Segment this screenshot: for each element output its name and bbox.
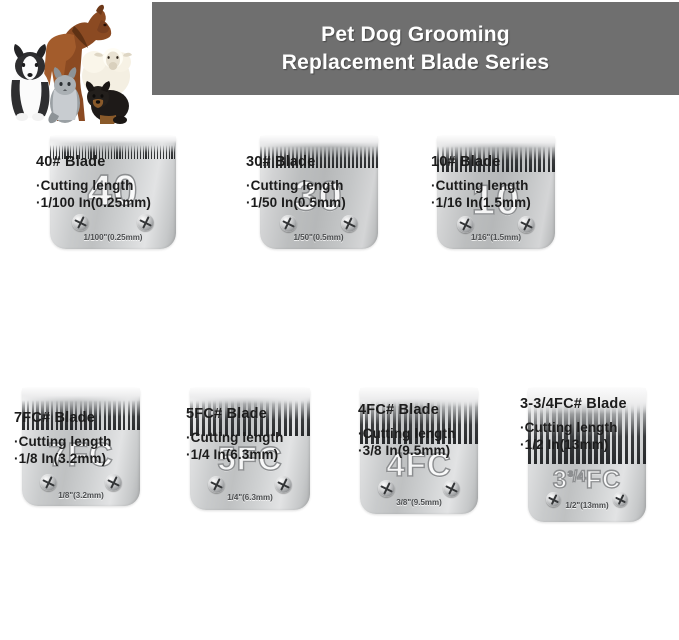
blade-screw-left-10 xyxy=(457,216,474,233)
blade-face-number-prefix: 3 xyxy=(553,466,568,494)
blade-face-number-3-3-4fc: 3³/4FC xyxy=(528,466,646,495)
blade-card-3-3-4fc[interactable]: 3³/4FC 1/2"(13mm) 3-3/4FC# Blade ·Cuttin… xyxy=(516,388,679,522)
blade-face-size-4fc: 3/8"(9.5mm) xyxy=(360,498,478,507)
blade-face-number-suffix: FC xyxy=(586,466,621,494)
blade-screw-right-40 xyxy=(137,214,154,231)
blade-screw-left-40 xyxy=(72,214,89,231)
blade-caption-line2-4fc: ·3/8 In(9.5mm) xyxy=(358,442,530,459)
blade-screw-right-10 xyxy=(518,216,535,233)
blade-caption-title-4fc: 4FC# Blade xyxy=(358,402,530,418)
blade-face-size-40: 1/100"(0.25mm) xyxy=(50,233,176,242)
blade-screw-right-7fc xyxy=(105,474,122,491)
blade-card-7fc[interactable]: 7FC 1/8"(3.2mm) 7FC# Blade ·Cutting leng… xyxy=(0,388,172,522)
blade-caption-30: 30# Blade ·Cutting length ·1/50 In(0.5mm… xyxy=(226,154,431,212)
blade-caption-line2-30: ·1/50 In(0.5mm) xyxy=(246,194,431,211)
blade-card-30[interactable]: 30 1/50"(0.5mm) 30# Blade ·Cutting lengt… xyxy=(226,136,411,249)
header-banner: Pet Dog Grooming Replacement Blade Serie… xyxy=(152,2,679,95)
blade-caption-3-3-4fc: 3-3/4FC# Blade ·Cutting length ·1/2 In(1… xyxy=(516,396,679,454)
blade-caption-7fc: 7FC# Blade ·Cutting length ·1/8 In(3.2mm… xyxy=(0,410,186,468)
blade-screw-left-5fc xyxy=(208,476,225,493)
blade-screw-left-30 xyxy=(280,215,297,232)
blade-screw-right-5fc xyxy=(275,476,292,493)
blade-caption-line1-10: ·Cutting length xyxy=(431,177,679,194)
blade-caption-line2-7fc: ·1/8 In(3.2mm) xyxy=(14,450,186,467)
blade-card-5fc[interactable]: 5FC 1/4"(6.3mm) 5FC# Blade ·Cutting leng… xyxy=(172,388,344,522)
blade-caption-line2-3-3-4fc: ·1/2 In(13mm) xyxy=(520,436,679,453)
blade-face-size-10: 1/16"(1.5mm) xyxy=(437,233,555,242)
page-header: Pet Dog Grooming Replacement Blade Serie… xyxy=(0,0,679,125)
blade-face-size-7fc: 1/8"(3.2mm) xyxy=(22,491,140,500)
blade-face-size-3-3-4fc: 1/2"(13mm) xyxy=(528,501,646,510)
blade-caption-40: 40# Blade ·Cutting length ·1/100 In(0.25… xyxy=(0,154,262,212)
blade-caption-10: 10# Blade ·Cutting length ·1/16 In(1.5mm… xyxy=(411,154,679,212)
blade-caption-title-7fc: 7FC# Blade xyxy=(14,410,186,426)
blade-caption-title-5fc: 5FC# Blade xyxy=(186,406,358,422)
blade-caption-title-3-3-4fc: 3-3/4FC# Blade xyxy=(520,396,679,412)
blade-caption-line1-7fc: ·Cutting length xyxy=(14,433,186,450)
blade-screw-left-4fc xyxy=(378,480,395,497)
blade-caption-5fc: 5FC# Blade ·Cutting length ·1/4 In(6.3mm… xyxy=(172,406,358,464)
blade-caption-4fc: 4FC# Blade ·Cutting length ·3/8 In(9.5mm… xyxy=(344,402,530,460)
blade-card-10[interactable]: 10 1/16"(1.5mm) 10# Blade ·Cutting lengt… xyxy=(411,136,679,249)
blade-row-bottom: 7FC 1/8"(3.2mm) 7FC# Blade ·Cutting leng… xyxy=(0,388,679,522)
blade-face-size-30: 1/50"(0.5mm) xyxy=(260,233,378,242)
blade-caption-title-30: 30# Blade xyxy=(246,154,431,170)
blade-screw-right-4fc xyxy=(443,480,460,497)
animal-photo-art xyxy=(0,0,152,125)
blade-caption-line1-4fc: ·Cutting length xyxy=(358,425,530,442)
blade-caption-line1-3-3-4fc: ·Cutting length xyxy=(520,419,679,436)
blade-caption-line2-10: ·1/16 In(1.5mm) xyxy=(431,194,679,211)
blade-caption-line2-5fc: ·1/4 In(6.3mm) xyxy=(186,446,358,463)
blade-face-number-fraction: ³/4 xyxy=(568,469,586,486)
animal-photo xyxy=(0,0,152,125)
blade-row-top: 40 1/100"(0.25mm) 40# Blade ·Cutting len… xyxy=(0,136,679,249)
blade-card-40[interactable]: 40 1/100"(0.25mm) 40# Blade ·Cutting len… xyxy=(0,136,226,249)
blade-caption-line1-5fc: ·Cutting length xyxy=(186,429,358,446)
blade-face-size-5fc: 1/4"(6.3mm) xyxy=(190,493,310,502)
blade-caption-title-10: 10# Blade xyxy=(431,154,679,170)
blade-screw-right-30 xyxy=(341,215,358,232)
blade-caption-line1-30: ·Cutting length xyxy=(246,177,431,194)
blade-screw-left-7fc xyxy=(40,474,57,491)
page-title: Pet Dog Grooming Replacement Blade Serie… xyxy=(282,21,549,76)
blade-card-4fc[interactable]: 4FC 3/8"(9.5mm) 4FC# Blade ·Cutting leng… xyxy=(344,388,516,522)
